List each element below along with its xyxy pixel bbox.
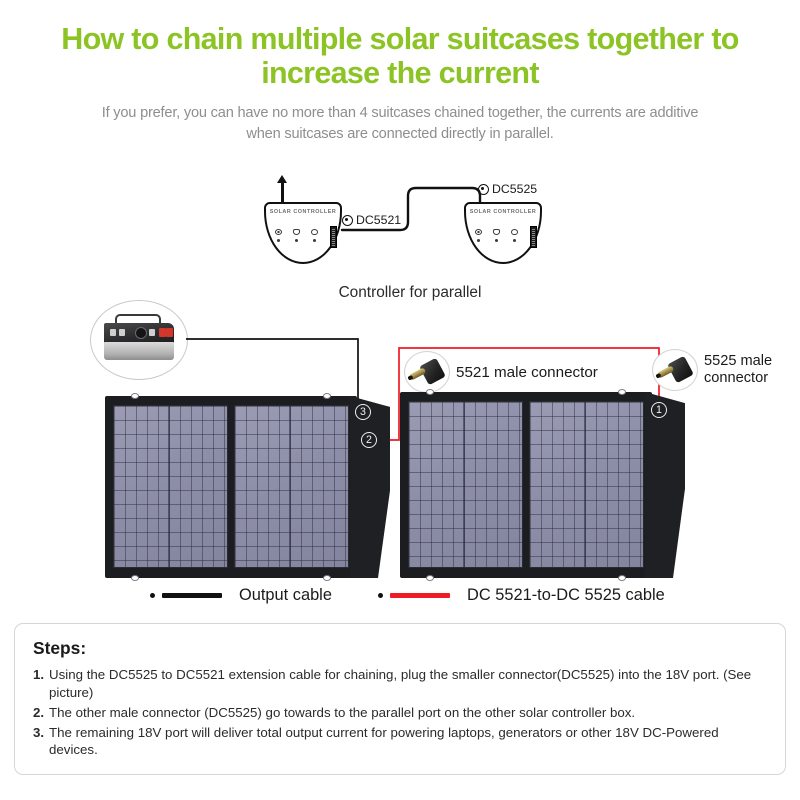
cell-section bbox=[408, 401, 523, 568]
panel-side-flap bbox=[350, 396, 390, 578]
step-number: 1. bbox=[33, 666, 49, 701]
step-text: Using the DC5525 to DC5521 extension cab… bbox=[49, 666, 767, 701]
led-indicator bbox=[277, 239, 280, 242]
legend-dot bbox=[150, 593, 155, 598]
callout-5521-male-connector: 5521 male connector bbox=[404, 351, 598, 393]
step-item: 1. Using the DC5525 to DC5521 extension … bbox=[33, 666, 767, 701]
step-number: 2. bbox=[33, 704, 49, 722]
legend-line-swatch bbox=[162, 593, 222, 599]
load-icon bbox=[511, 229, 518, 235]
socket-icon bbox=[149, 329, 155, 336]
page-subtitle: If you prefer, you can have no more than… bbox=[0, 103, 800, 145]
panel-side-flap bbox=[645, 392, 685, 578]
cell-section bbox=[234, 405, 349, 568]
dc-jack-icon bbox=[478, 184, 489, 195]
grommet-icon bbox=[618, 575, 626, 581]
controller-right-port bbox=[530, 226, 537, 248]
led-indicator bbox=[495, 239, 498, 242]
badge-one: 1 bbox=[651, 402, 667, 418]
outlet-icon bbox=[166, 328, 173, 337]
legend-label-output: Output cable bbox=[239, 586, 332, 605]
output-cable-path bbox=[186, 339, 358, 404]
grommet-icon bbox=[131, 393, 139, 399]
power-station-top bbox=[104, 323, 174, 343]
callout-5525-male-connector: 5525 male connector bbox=[652, 349, 792, 391]
cable-legend: Output cable DC 5521-to-DC 5525 cable bbox=[150, 586, 670, 610]
load-icon bbox=[311, 229, 318, 235]
panel-cells bbox=[113, 405, 349, 568]
step-number: 3. bbox=[33, 724, 49, 759]
callout-5525-label: 5525 male connector bbox=[704, 353, 792, 387]
sun-icon bbox=[275, 229, 282, 235]
legend-dot bbox=[378, 593, 383, 598]
controller-left-leds bbox=[275, 229, 318, 242]
socket-icon bbox=[110, 329, 116, 336]
power-station-base bbox=[104, 342, 174, 360]
dc5521-label: DC5521 bbox=[356, 213, 401, 227]
page-title: How to chain multiple solar suitcases to… bbox=[0, 22, 800, 90]
led-indicator bbox=[313, 239, 316, 242]
legend-item-output-cable: Output cable bbox=[150, 586, 332, 605]
grommet-icon bbox=[426, 389, 434, 395]
cell-section bbox=[113, 405, 228, 568]
controller-diagram-caption: Controller for parallel bbox=[250, 284, 570, 302]
panel-cells bbox=[408, 401, 644, 568]
output-arrow-icon bbox=[281, 182, 284, 203]
socket-icon bbox=[119, 329, 125, 336]
callout-5521-label: 5521 male connector bbox=[456, 364, 598, 381]
dc5525-port-tag: DC5525 bbox=[478, 182, 537, 196]
grommet-icon bbox=[323, 575, 331, 581]
grommet-icon bbox=[426, 575, 434, 581]
grommet-icon bbox=[618, 389, 626, 395]
panel-frame bbox=[105, 396, 357, 578]
step-item: 2. The other male connector (DC5525) go … bbox=[33, 704, 767, 722]
steps-title: Steps: bbox=[33, 638, 767, 659]
panel-frame bbox=[400, 392, 652, 578]
controller-left-label: SOLAR CONTROLLER bbox=[266, 209, 340, 215]
badge-two: 2 bbox=[361, 432, 377, 448]
controller-right-label: SOLAR CONTROLLER bbox=[466, 209, 540, 215]
header: How to chain multiple solar suitcases to… bbox=[0, 22, 800, 145]
battery-icon bbox=[493, 229, 500, 235]
steps-panel: Steps: 1. Using the DC5525 to DC5521 ext… bbox=[14, 623, 786, 775]
led-indicator bbox=[295, 239, 298, 242]
step-text: The other male connector (DC5525) go tow… bbox=[49, 704, 767, 722]
led-sun-group bbox=[275, 229, 282, 242]
led-indicator bbox=[513, 239, 516, 242]
step-item: 3. The remaining 18V port will deliver t… bbox=[33, 724, 767, 759]
legend-line-swatch bbox=[390, 593, 450, 599]
dial-icon bbox=[135, 327, 147, 339]
dc5521-port-tag: DC5521 bbox=[342, 213, 401, 227]
controller-right-leds bbox=[475, 229, 518, 242]
plug-pin-shape bbox=[657, 365, 675, 378]
led-battery-group bbox=[293, 229, 300, 242]
outlet-icon bbox=[159, 328, 166, 337]
grommet-icon bbox=[131, 575, 139, 581]
led-sun-group bbox=[475, 229, 482, 242]
dc-jack-icon bbox=[342, 215, 353, 226]
step-text: The remaining 18V port will deliver tota… bbox=[49, 724, 767, 759]
led-load-group bbox=[511, 229, 518, 242]
controller-left-port bbox=[330, 226, 337, 248]
plug-pin-shape bbox=[409, 367, 427, 380]
led-battery-group bbox=[493, 229, 500, 242]
dc5525-label: DC5525 bbox=[492, 182, 537, 196]
dc-plug-icon bbox=[404, 351, 450, 393]
solar-panel-right: 1 bbox=[400, 392, 685, 578]
sun-icon bbox=[475, 229, 482, 235]
cell-section bbox=[529, 401, 644, 568]
battery-icon bbox=[293, 229, 300, 235]
grommet-icon bbox=[323, 393, 331, 399]
dc-plug-icon bbox=[652, 349, 698, 391]
power-station-body bbox=[104, 323, 174, 360]
led-load-group bbox=[311, 229, 318, 242]
legend-label-dc: DC 5521-to-DC 5525 cable bbox=[467, 586, 665, 605]
solar-panel-left: 3 2 bbox=[105, 396, 390, 578]
led-indicator bbox=[477, 239, 480, 242]
badge-three: 3 bbox=[355, 404, 371, 420]
power-station-illustration bbox=[90, 300, 188, 380]
legend-item-dc-cable: DC 5521-to-DC 5525 cable bbox=[378, 586, 665, 605]
